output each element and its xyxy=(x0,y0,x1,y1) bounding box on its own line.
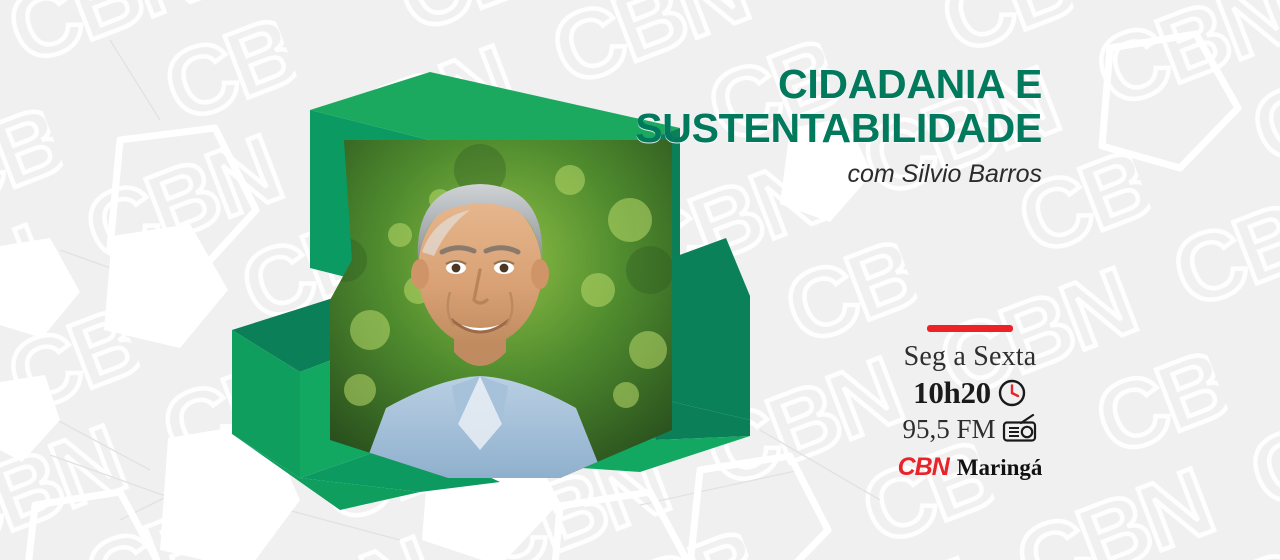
station-city: Maringá xyxy=(957,455,1043,481)
program-title-block: CIDADANIA E SUSTENTABILIDADE com Silvio … xyxy=(482,62,1042,188)
red-divider xyxy=(927,325,1013,332)
schedule-time: 10h20 xyxy=(913,375,991,411)
schedule-frequency: 95,5 FM xyxy=(902,413,995,445)
page-title-line-1: CIDADANIA E xyxy=(482,62,1042,106)
schedule-time-row: 10h20 xyxy=(880,375,1060,411)
host-portrait xyxy=(330,140,672,478)
page-title-line-2: SUSTENTABILIDADE xyxy=(482,106,1042,150)
schedule-block: Seg a Sexta 10h20 95,5 FM CBN Maringá xyxy=(880,325,1060,482)
station-logo: CBN Maringá xyxy=(880,453,1060,482)
schedule-frequency-row: 95,5 FM xyxy=(880,413,1060,445)
program-banner: CBN CBN xyxy=(0,0,1280,560)
clock-icon xyxy=(997,378,1027,408)
schedule-days: Seg a Sexta xyxy=(880,341,1060,373)
station-brand: CBN xyxy=(898,453,949,482)
radio-icon xyxy=(1002,414,1038,444)
host-credit: com Silvio Barros xyxy=(482,160,1042,188)
